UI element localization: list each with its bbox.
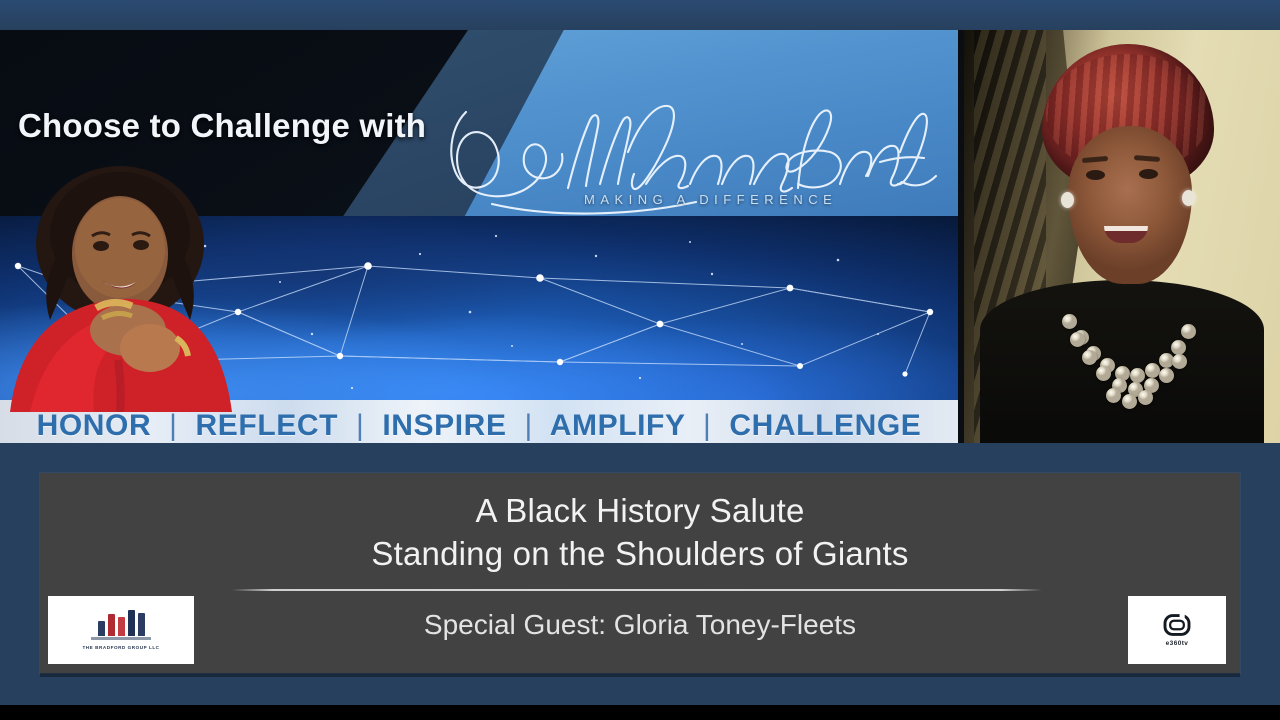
host-signature: MAKING A DIFFERENCE	[432, 92, 942, 216]
broadcast-screen: Choose to Challenge with	[0, 0, 1280, 720]
the-bradford-group-logo[interactable]: THE BRADFORD GROUP LLC	[48, 596, 194, 664]
lower-third-card: A Black History Salute Standing on the S…	[40, 473, 1240, 673]
value-reflect: REFLECT	[196, 409, 339, 442]
value-amplify: AMPLIFY	[550, 409, 685, 442]
guest-eye-right	[1139, 169, 1158, 179]
bradford-logo-base	[91, 637, 151, 640]
frame-bottom-border	[0, 705, 1280, 720]
program-title-line-2: Standing on the Shoulders of Giants	[40, 532, 1240, 575]
program-title: A Black History Salute Standing on the S…	[40, 489, 1240, 575]
guest-pearl-necklace	[1060, 308, 1194, 404]
title-divider	[232, 589, 1042, 591]
e360tv-logo[interactable]: e360tv	[1128, 596, 1226, 664]
value-inspire: INSPIRE	[382, 409, 506, 442]
value-honor: HONOR	[37, 409, 152, 442]
e360tv-logo-text: e360tv	[1166, 640, 1189, 647]
host-portrait	[0, 162, 260, 412]
bradford-logo-text: THE BRADFORD GROUP LLC	[82, 645, 159, 650]
value-separator: |	[169, 409, 177, 442]
guest-earring-right	[1182, 190, 1195, 206]
signature-tagline: MAKING A DIFFERENCE	[584, 192, 837, 207]
value-challenge: CHALLENGE	[729, 409, 921, 442]
card-shadow	[40, 673, 1240, 677]
value-separator: |	[703, 409, 711, 442]
value-separator: |	[356, 409, 364, 442]
bradford-bars-icon	[98, 610, 145, 636]
e360tv-mark-icon	[1162, 613, 1192, 637]
frame-top-border	[0, 0, 1280, 30]
guest-earring-left	[1061, 192, 1074, 208]
host-video-tile[interactable]: Choose to Challenge with	[0, 30, 958, 443]
special-guest-line: Special Guest: Gloria Toney-Fleets	[40, 609, 1240, 641]
guest-video-tile[interactable]	[964, 30, 1280, 443]
guest-eye-left	[1086, 170, 1105, 180]
values-text: HONOR | REFLECT | INSPIRE | AMPLIFY | CH…	[37, 409, 922, 443]
value-separator: |	[525, 409, 533, 442]
show-title: Choose to Challenge with	[18, 107, 426, 145]
program-title-line-1: A Black History Salute	[40, 489, 1240, 532]
guest-face	[1068, 126, 1192, 284]
